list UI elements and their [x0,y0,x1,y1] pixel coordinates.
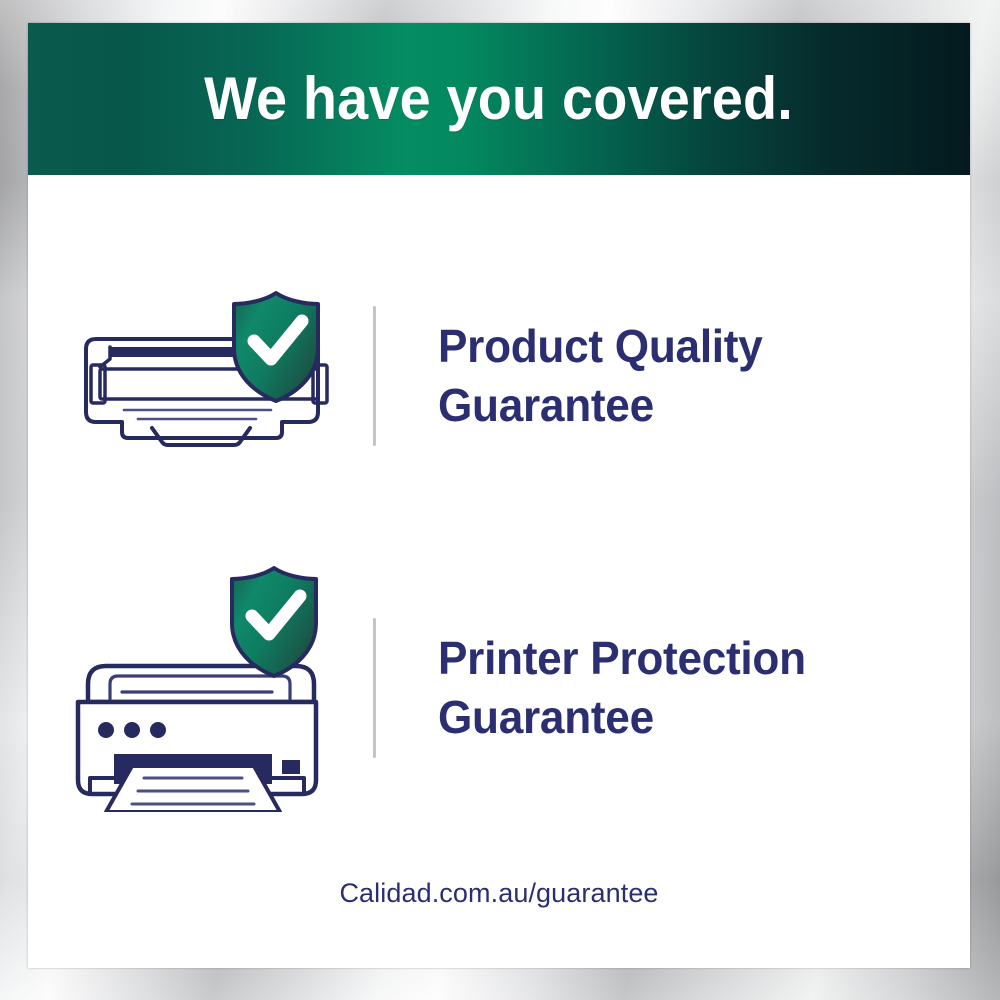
feature-title-line-2: Guarantee [438,691,654,743]
feature-title-line-2: Guarantee [438,379,654,431]
footer-url[interactable]: Calidad.com.au/guarantee [28,878,970,909]
feature-text-printer-protection: Printer Protection Guarantee [376,629,970,747]
toner-cartridge-shield-icon [28,289,373,464]
feature-text-product-quality: Product Quality Guarantee [376,317,970,435]
header-title: We have you covered. [205,69,794,129]
printer-shield-icon [28,564,373,812]
feature-title: Product Quality Guarantee [438,317,949,435]
feature-row-product-quality: Product Quality Guarantee [28,271,970,481]
header-banner: We have you covered. [28,23,970,175]
feature-title: Printer Protection Guarantee [438,629,949,747]
feature-row-printer-protection: Printer Protection Guarantee [28,563,970,813]
feature-title-line-1: Printer Protection [438,632,806,684]
poster-frame: We have you covered. [0,0,1000,1000]
white-card: We have you covered. [28,23,970,968]
feature-title-line-1: Product Quality [438,320,762,372]
